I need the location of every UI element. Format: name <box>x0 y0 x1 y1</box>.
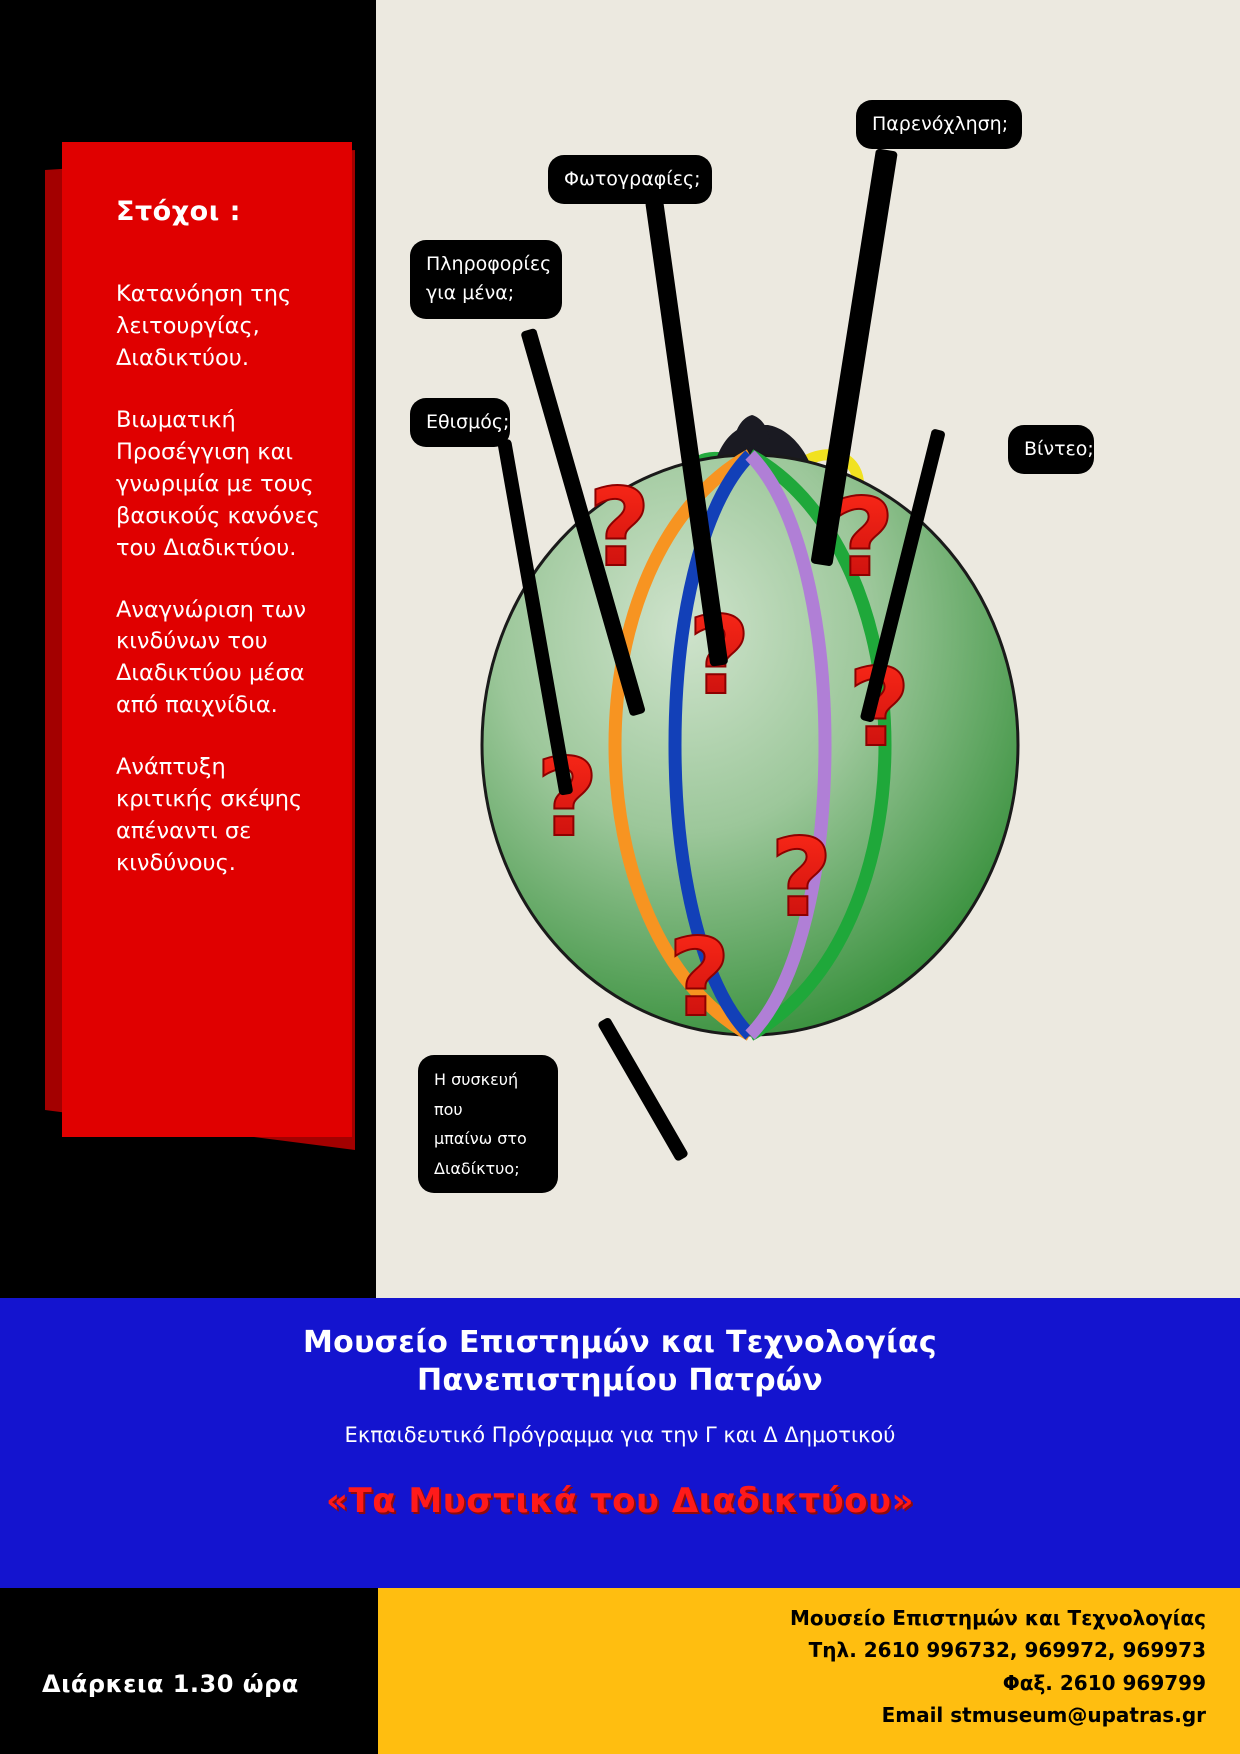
question-mark: ? <box>536 736 599 861</box>
question-mark: ? <box>770 816 833 941</box>
contact-fax: Φαξ. 2610 969799 <box>378 1667 1206 1699</box>
bubble-info-about-me[interactable]: Πληροφορίες για μένα; <box>410 240 562 319</box>
objective-item-2: Βιωματική Προσέγγιση και γνωριμία με του… <box>116 405 328 565</box>
museum-title-line1: Μουσείο Επιστημών και Τεχνολογίας <box>0 1324 1240 1362</box>
program-subtitle: Εκπαιδευτικό Πρόγραμμα για την Γ και Δ Δ… <box>0 1423 1240 1447</box>
contact-phone: Τηλ. 2610 996732, 969972, 969973 <box>378 1634 1206 1666</box>
poster-root: ? ? ? ? ? ? ? Παρενόχληση; Φωτογραφίες; … <box>0 0 1240 1754</box>
bubble-harassment[interactable]: Παρενόχληση; <box>856 100 1022 149</box>
contact-museum: Μουσείο Επιστημών και Τεχνολογίας <box>378 1602 1206 1634</box>
objective-item-1: Κατανόηση της λειτουργίας, Διαδικτύου. <box>116 279 328 375</box>
bubble-video[interactable]: Βίντεο; <box>1008 425 1094 474</box>
contact-block: Μουσείο Επιστημών και Τεχνολογίας Τηλ. 2… <box>378 1588 1240 1754</box>
bubble-device[interactable]: Η συσκευή που μπαίνω στο Διαδίκτυο; <box>418 1055 558 1193</box>
museum-title-line2: Πανεπιστημίου Πατρών <box>0 1362 1240 1400</box>
contact-lines: Μουσείο Επιστημών και Τεχνολογίας Τηλ. 2… <box>378 1588 1240 1732</box>
objective-item-4: Ανάπτυξη κριτικής σκέψης απέναντι σε κιν… <box>116 752 328 880</box>
program-name: «Τα Μυστικά του Διαδικτύου» <box>0 1481 1240 1521</box>
museum-title: Μουσείο Επιστημών και Τεχνολογίας Πανεπι… <box>0 1298 1240 1401</box>
objectives-title: Στόχοι : <box>116 196 328 227</box>
question-mark: ? <box>668 916 731 1041</box>
bubble-photos[interactable]: Φωτογραφίες; <box>548 155 712 204</box>
objective-item-3: Αναγνώριση των κινδύνων του Διαδικτύου μ… <box>116 595 328 723</box>
duration-block: Διάρκεια 1.30 ώρα <box>0 1588 378 1754</box>
duration-text: Διάρκεια 1.30 ώρα <box>42 1670 299 1698</box>
footer-blue-band: Μουσείο Επιστημών και Τεχνολογίας Πανεπι… <box>0 1298 1240 1588</box>
contact-email[interactable]: Email stmuseum@upatras.gr <box>378 1699 1206 1731</box>
objectives-box: Στόχοι : Κατανόηση της λειτουργίας, Διαδ… <box>62 142 352 1137</box>
bubble-addiction[interactable]: Εθισμός; <box>410 398 510 447</box>
